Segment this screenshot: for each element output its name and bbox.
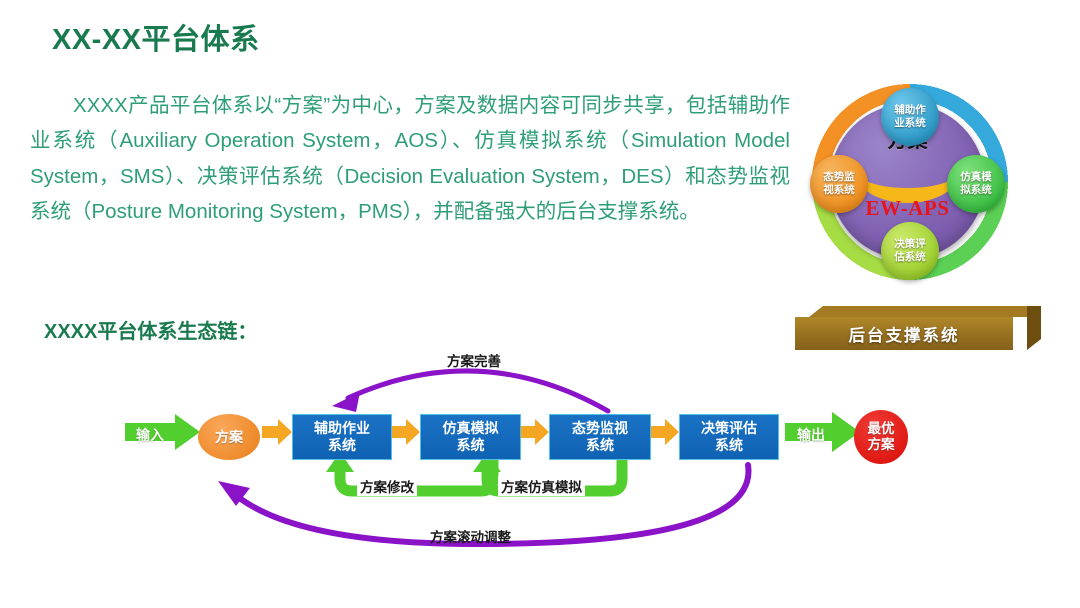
flow-arrow-orange-3 xyxy=(519,419,549,445)
ring-node-aos[interactable]: 辅助作 业系统 xyxy=(881,88,939,146)
support-box-top-face xyxy=(809,306,1041,317)
ring-node-pms-line1: 态势监 xyxy=(823,171,855,184)
flow-arrow-orange-2 xyxy=(390,419,420,445)
ring-node-pms[interactable]: 态势监 视系统 xyxy=(810,155,868,213)
ring-diagram: 方案 EW-APS 辅助作 业系统 仿真模 拟系统 决策评 估系统 态势监 视系… xyxy=(790,62,1030,302)
flow-node-best-plan-line1: 最优 xyxy=(868,421,895,437)
flow-box-pms-line2: 系统 xyxy=(586,437,614,455)
flow-node-plan[interactable]: 方案 xyxy=(198,414,260,460)
flow-node-best-plan[interactable]: 最优 方案 xyxy=(854,410,908,464)
flow-box-pms-line1: 态势监视 xyxy=(572,420,628,438)
page-title: XX-XX平台体系 xyxy=(52,16,260,58)
flow-chart: 方案完善 方案滚动调整 方案修改 方案仿真模拟 xyxy=(0,340,1080,570)
smile-icon xyxy=(854,148,961,203)
flow-output-label: 输出 xyxy=(797,425,825,445)
ring-node-sms[interactable]: 仿真模 拟系统 xyxy=(947,155,1005,213)
purple-arc-top xyxy=(332,371,608,412)
label-plan-modify: 方案修改 xyxy=(357,476,417,496)
flow-box-aos[interactable]: 辅助作业 系统 xyxy=(292,414,392,460)
flow-box-sms-line1: 仿真模拟 xyxy=(443,420,499,438)
ring-node-aos-line1: 辅助作 xyxy=(894,104,926,117)
ring-node-des[interactable]: 决策评 估系统 xyxy=(881,222,939,280)
ring-node-pms-line2: 视系统 xyxy=(823,184,855,197)
flow-input-label: 输入 xyxy=(136,425,164,445)
flow-box-sms-line2: 系统 xyxy=(457,437,485,455)
ring-node-sms-line1: 仿真模 xyxy=(960,171,992,184)
body-paragraph: XXXX产品平台体系以“方案”为中心，方案及数据内容可同步共享，包括辅助作业系统… xyxy=(30,88,790,229)
label-plan-rolling-adjust: 方案滚动调整 xyxy=(430,526,511,546)
label-plan-refine: 方案完善 xyxy=(447,350,501,370)
flow-connectors xyxy=(0,340,1080,570)
flow-box-des[interactable]: 决策评估 系统 xyxy=(679,414,779,460)
ring-node-des-line1: 决策评 xyxy=(894,238,926,251)
label-plan-simulate: 方案仿真模拟 xyxy=(498,476,585,496)
flow-box-des-line1: 决策评估 xyxy=(701,420,757,438)
ring-node-aos-line2: 业系统 xyxy=(894,117,926,130)
ring-node-sms-line2: 拟系统 xyxy=(960,184,992,197)
ring-node-des-line2: 估系统 xyxy=(894,251,926,264)
slide-canvas: XX-XX平台体系 XXXX产品平台体系以“方案”为中心，方案及数据内容可同步共… xyxy=(0,0,1080,608)
flow-node-best-plan-line2: 方案 xyxy=(868,437,895,453)
flow-box-des-line2: 系统 xyxy=(715,437,743,455)
flow-arrow-orange-1 xyxy=(262,419,292,445)
flow-box-aos-line1: 辅助作业 xyxy=(314,420,370,438)
flow-node-plan-label: 方案 xyxy=(215,427,243,447)
body-paragraph-text: XXXX产品平台体系以“方案”为中心，方案及数据内容可同步共享，包括辅助作业系统… xyxy=(30,94,790,223)
flow-arrow-orange-4 xyxy=(649,419,679,445)
flow-box-pms[interactable]: 态势监视 系统 xyxy=(549,414,651,460)
flow-box-aos-line2: 系统 xyxy=(328,437,356,455)
flow-box-sms[interactable]: 仿真模拟 系统 xyxy=(420,414,521,460)
